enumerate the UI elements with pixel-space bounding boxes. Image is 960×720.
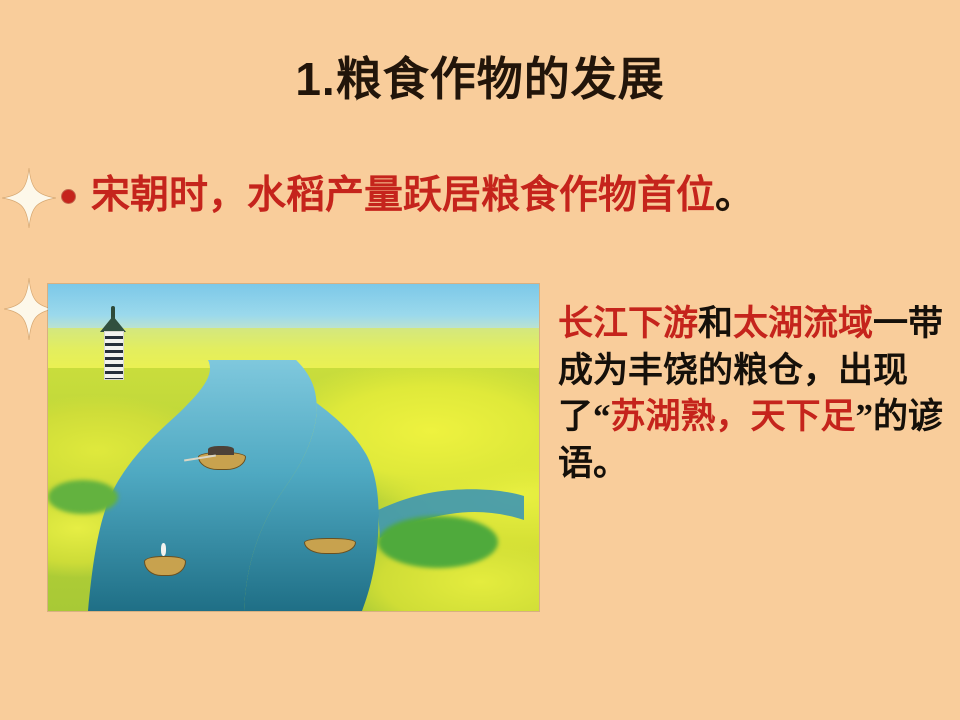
paragraph-segment-4: “	[593, 397, 611, 436]
sparkle-star-icon-top	[2, 168, 56, 228]
boat-hull	[144, 556, 186, 576]
photo-pagoda-tower	[100, 306, 126, 378]
photo-green-island-right	[378, 516, 498, 568]
title-text: 粮食作物的发展	[336, 54, 665, 105]
photo-rapeseed-fields	[48, 368, 539, 611]
paragraph-segment-6: ”	[856, 397, 874, 436]
photo-green-island-left	[48, 480, 118, 514]
slide-canvas: 1.粮食作物的发展 宋朝时，水稻产量跃居粮食作物首位。	[0, 0, 960, 720]
photo-boat-foreground	[144, 556, 184, 574]
bullet-text: 宋朝时，水稻产量跃居粮食作物首位。	[91, 176, 754, 217]
boat-canopy	[208, 446, 234, 455]
sparkle-star-icon-lower	[4, 278, 54, 340]
pagoda-roof	[100, 316, 126, 332]
bullet-dot-icon	[62, 190, 75, 203]
title-number: 1.	[295, 53, 335, 105]
paragraph-segment-0: 长江下游	[558, 304, 698, 343]
paragraph-segment-1: 和	[698, 304, 733, 343]
photo-boat-moored	[304, 538, 354, 552]
bullet-text-main: 宋朝时，水稻产量跃居粮食作物首位	[91, 174, 715, 217]
boat-hull	[304, 538, 356, 554]
boat-hull	[198, 452, 246, 470]
paragraph-segment-5: 苏湖熟，天下足	[611, 397, 856, 436]
bullet-line: 宋朝时，水稻产量跃居粮食作物首位。	[62, 176, 754, 217]
paragraph-segment-2: 太湖流域	[733, 304, 873, 343]
page-title: 1.粮食作物的发展	[0, 54, 960, 106]
photo-jiangnan-waterway	[48, 284, 539, 611]
pagoda-body	[104, 331, 124, 380]
bullet-text-period: 。	[715, 174, 754, 217]
photo-boat-middle	[198, 452, 244, 468]
body-paragraph: 长江下游和太湖流域一带成为丰饶的粮仓，出现了“苏湖熟，天下足”的谚语。	[558, 301, 950, 487]
